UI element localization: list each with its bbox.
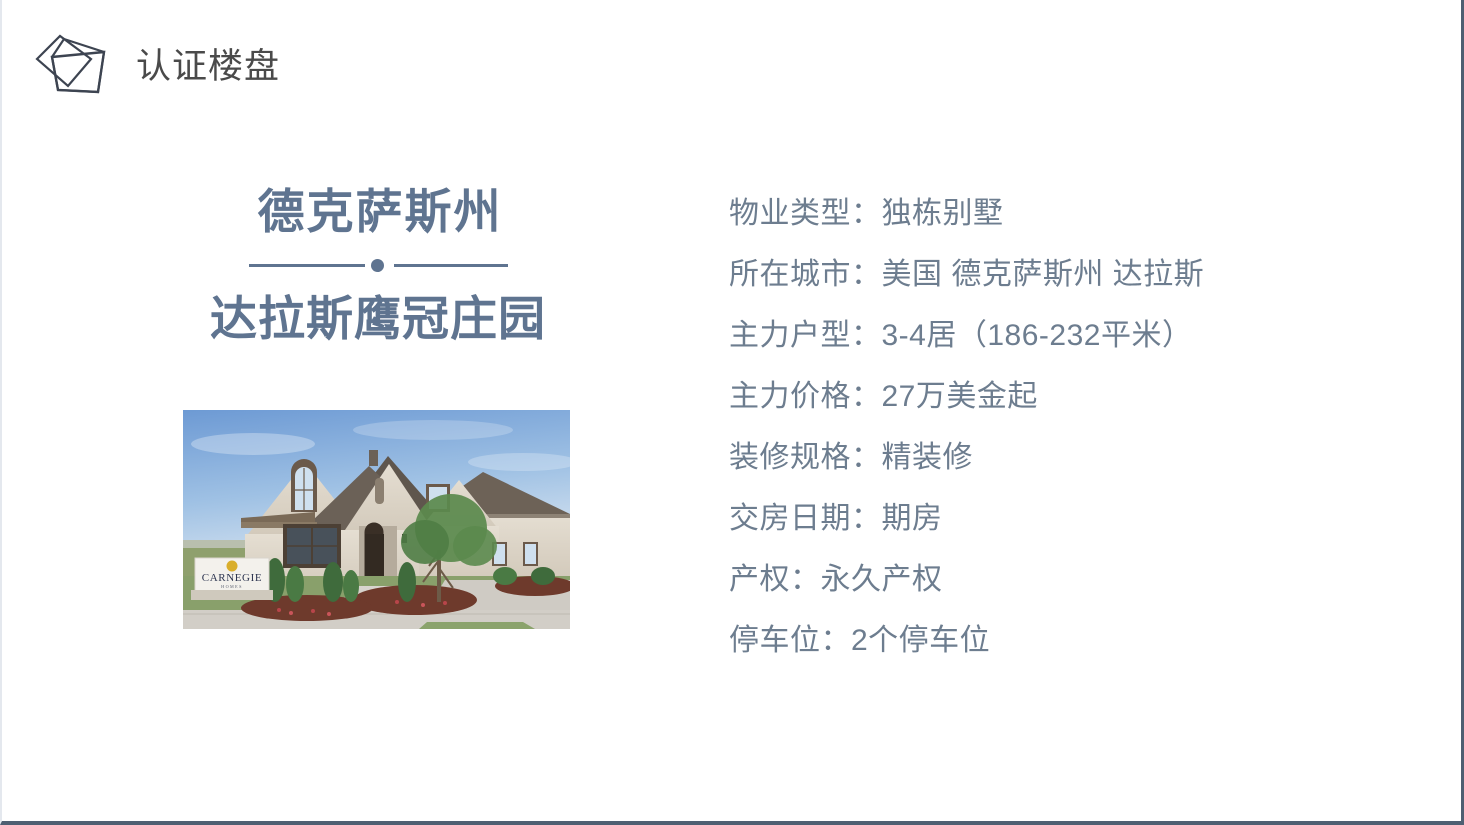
property-photo: CARNEGIE HOMES <box>183 410 570 629</box>
info-row-decoration: 装修规格：精装修 <box>729 427 1369 488</box>
title-divider <box>183 259 573 273</box>
svg-text:CARNEGIE: CARNEGIE <box>202 572 262 584</box>
property-title-block: 德克萨斯州 达拉斯鹰冠庄园 <box>183 186 573 344</box>
info-row-delivery-date: 交房日期：期房 <box>729 488 1369 549</box>
property-name-title: 达拉斯鹰冠庄园 <box>183 293 573 345</box>
divider-segment-left <box>249 264 365 267</box>
property-summary-column: 德克萨斯州 达拉斯鹰冠庄园 <box>183 186 573 629</box>
svg-text:HOMES: HOMES <box>221 584 243 589</box>
info-row-property-type: 物业类型：独栋别墅 <box>729 183 1369 244</box>
divider-segment-right <box>394 264 508 267</box>
overlapping-squares-icon <box>20 26 116 106</box>
divider-dot-icon <box>371 259 384 272</box>
info-row-price: 主力价格：27万美金起 <box>729 366 1369 427</box>
property-info-list: 物业类型：独栋别墅 所在城市：美国 德克萨斯州 达拉斯 主力户型：3-4居（18… <box>729 183 1369 671</box>
property-photo-image: CARNEGIE HOMES <box>183 410 570 629</box>
slide-canvas: 认证楼盘 德克萨斯州 达拉斯鹰冠庄园 <box>0 0 1464 825</box>
info-row-unit-layout: 主力户型：3-4居（186-232平米） <box>729 305 1369 366</box>
info-row-ownership: 产权：永久产权 <box>729 549 1369 610</box>
info-row-city: 所在城市：美国 德克萨斯州 达拉斯 <box>729 244 1369 305</box>
slide-header: 认证楼盘 <box>20 26 280 106</box>
page-title: 认证楼盘 <box>136 49 280 84</box>
property-region-title: 德克萨斯州 <box>187 186 573 238</box>
info-row-parking: 停车位：2个停车位 <box>729 610 1369 671</box>
